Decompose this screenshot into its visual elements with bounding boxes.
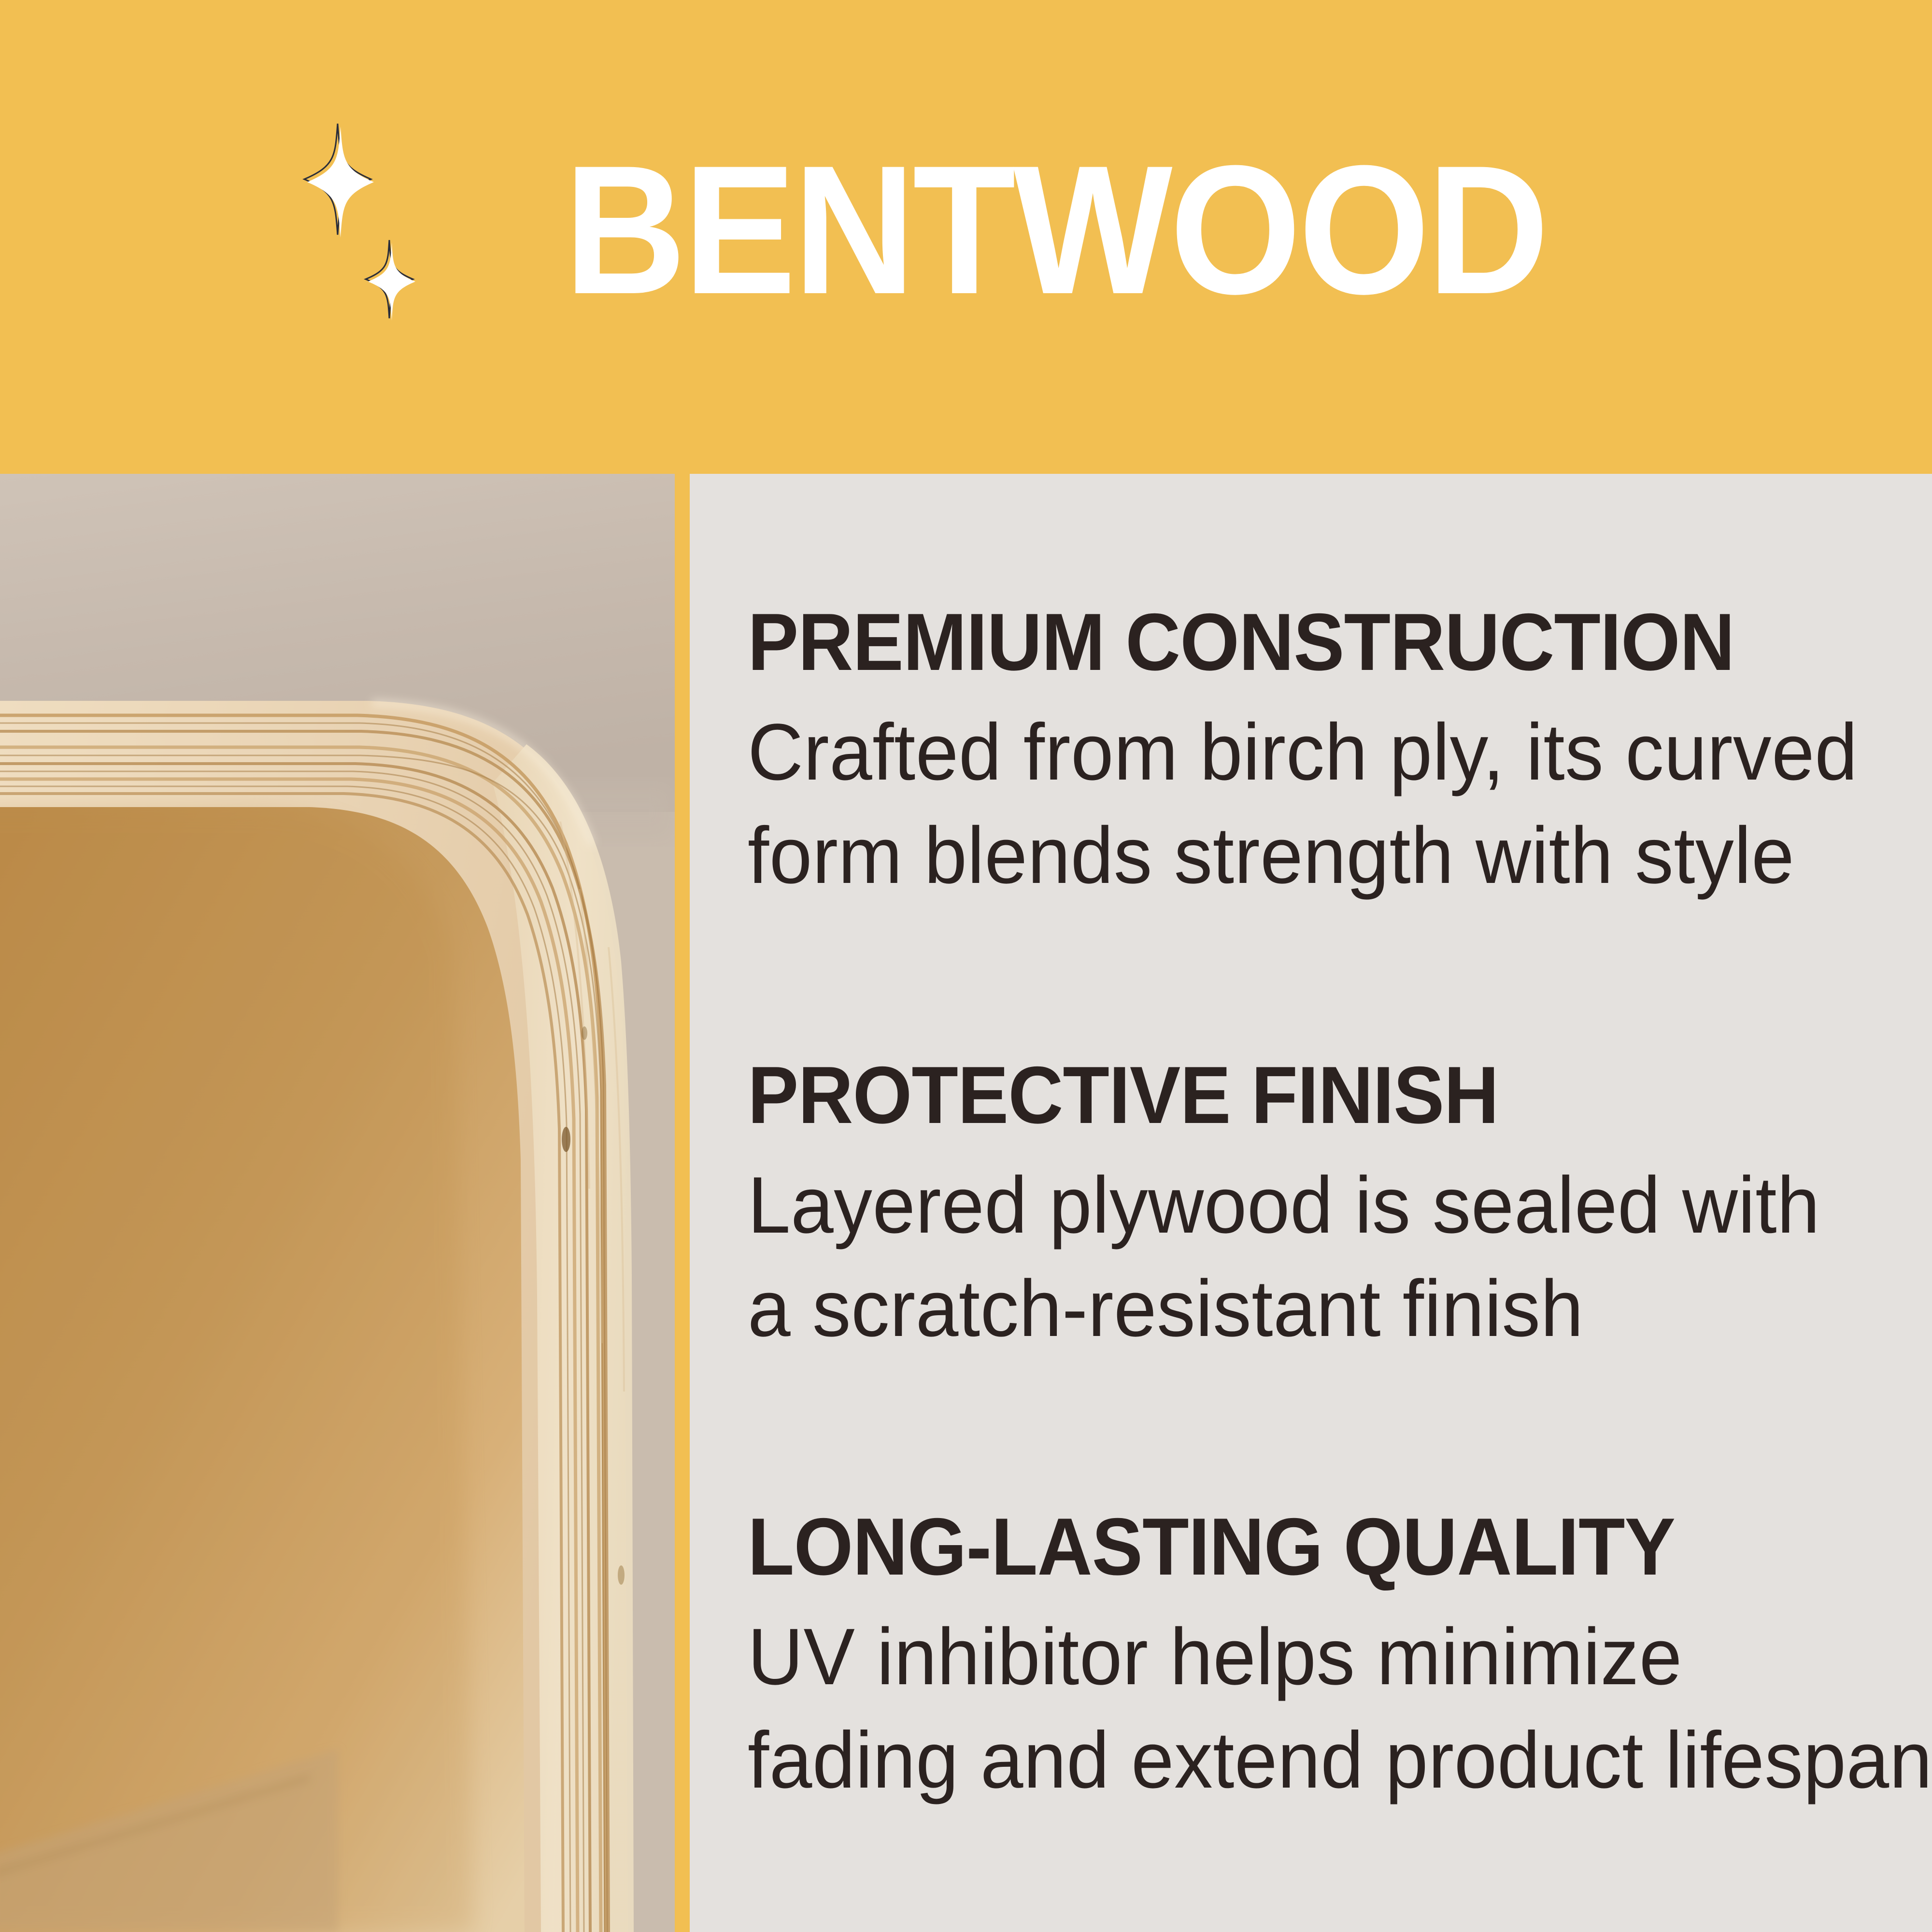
feature-block-protective-finish: PROTECTIVE FINISH Layered plywood is sea… <box>748 1053 1932 1361</box>
product-photo <box>0 474 675 1932</box>
feature-heading: PROTECTIVE FINISH <box>748 1053 1861 1136</box>
feature-heading: LONG-LASTING QUALITY <box>748 1505 1861 1588</box>
feature-block-premium-construction: PREMIUM CONSTRUCTION Crafted from birch … <box>748 600 1932 908</box>
feature-list: PREMIUM CONSTRUCTION Crafted from birch … <box>748 474 1932 1932</box>
feature-body-line: Layered plywood is sealed with <box>748 1154 1885 1257</box>
header-band: BENTWOOD <box>0 0 1932 474</box>
feature-body-line: Crafted from birch ply, its curved <box>748 701 1885 804</box>
sparkle-small-icon <box>366 240 415 321</box>
feature-body-line: fading and extend product lifespan <box>748 1709 1885 1812</box>
feature-body-line: a scratch-resistant finish <box>748 1257 1885 1361</box>
vertical-divider <box>675 474 690 1932</box>
feature-block-long-lasting-quality: LONG-LASTING QUALITY UV inhibitor helps … <box>748 1505 1932 1812</box>
feature-body: Layered plywood is sealed with a scratch… <box>748 1154 1885 1361</box>
sparkle-large-icon <box>304 124 374 238</box>
brand-title: BENTWOOD <box>564 138 1547 322</box>
product-feature-card: BENTWOOD <box>0 0 1932 1932</box>
feature-body: Crafted from birch ply, its curved form … <box>748 701 1885 908</box>
feature-body: UV inhibitor helps minimize fading and e… <box>748 1605 1885 1812</box>
feature-body-line: UV inhibitor helps minimize <box>748 1605 1885 1709</box>
features-panel: PREMIUM CONSTRUCTION Crafted from birch … <box>690 474 1932 1932</box>
sparkle-group <box>270 121 454 338</box>
feature-heading: PREMIUM CONSTRUCTION <box>748 600 1861 683</box>
feature-body-line: form blends strength with style <box>748 804 1885 908</box>
